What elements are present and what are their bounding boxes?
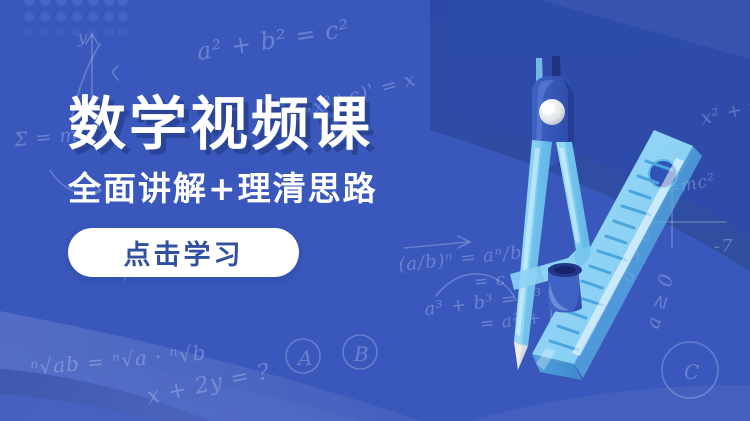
page-title: 数学视频课 xyxy=(68,92,498,156)
formula-item: B xyxy=(354,342,370,366)
ruler xyxy=(532,130,702,380)
compass-and-ruler-illustration xyxy=(470,30,750,421)
click-to-learn-button[interactable]: 点击学习 xyxy=(68,228,299,277)
formula-item: A xyxy=(298,346,313,370)
promo-banner: a² + b² = c² Σ = mc E=mc² (½x²+c)' = x f… xyxy=(0,0,750,421)
click-to-learn-label: 点击学习 xyxy=(124,233,244,272)
formula-item: y xyxy=(78,28,88,47)
banner-text-block: 数学视频课 全面讲解+理清思路 点击学习 xyxy=(68,92,498,277)
banner-subtitle: 全面讲解+理清思路 xyxy=(68,170,498,208)
